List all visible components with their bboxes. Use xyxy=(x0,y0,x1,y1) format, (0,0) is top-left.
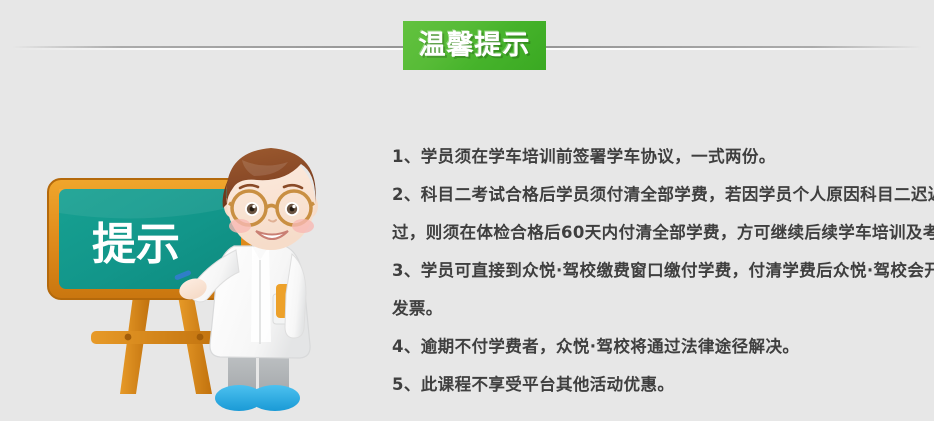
page-header: 温馨提示 xyxy=(0,0,934,92)
right-shoe xyxy=(250,385,300,411)
tips-illustration: 提示 xyxy=(28,126,378,416)
notes-list: 1、学员须在学车培训前签署学车协议，一式两份。 2、科目二考试合格后学员须付清全… xyxy=(392,138,934,404)
note-line: 1、学员须在学车培训前签署学车协议，一式两份。 xyxy=(392,138,934,176)
warm-tips-banner: 温馨提示 xyxy=(403,21,546,70)
note-line: 5、此课程不享受平台其他活动优惠。 xyxy=(392,366,934,404)
banner-title: 温馨提示 xyxy=(419,32,531,59)
chalkboard-text: 提示 xyxy=(92,219,180,270)
note-line: 2、科目二考试合格后学员须付清全部学费，若因学员个人原因科目二迟迟不通 xyxy=(392,176,934,214)
note-line: 过，则须在体检合格后60天内付清全部学费，方可继续后续学车培训及考试。 xyxy=(392,214,934,252)
note-line: 4、逾期不付学费者，众悦·驾校将通过法律途径解决。 xyxy=(392,328,934,366)
note-line: 发票。 xyxy=(392,290,934,328)
note-line: 3、学员可直接到众悦·驾校缴费窗口缴付学费，付清学费后众悦·驾校会开具 xyxy=(392,252,934,290)
